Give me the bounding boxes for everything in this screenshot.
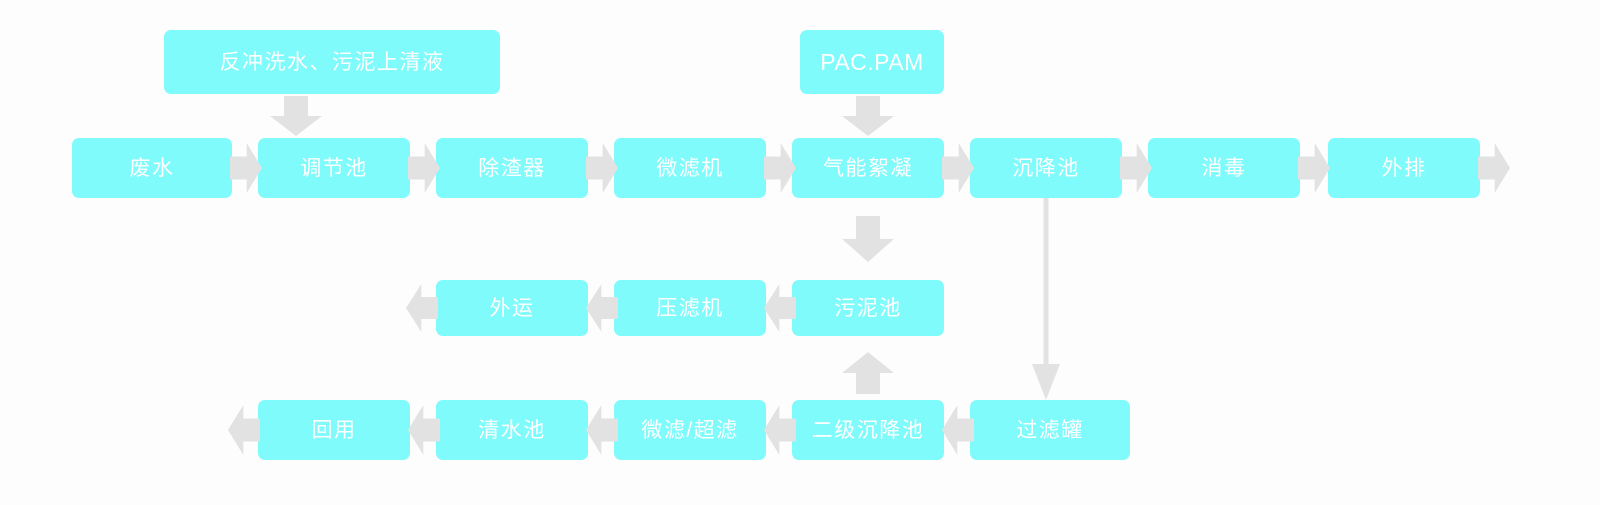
arrow-down-icon [842,216,894,262]
node-secsettling[interactable]: 二级沉降池 [792,400,944,460]
node-wastewater[interactable]: 废水 [72,138,232,198]
arrow-left-icon [942,405,974,455]
node-label: 微滤机 [656,158,724,179]
node-settling[interactable]: 沉降池 [970,138,1122,198]
node-pacpam[interactable]: PAC.PAM [800,30,944,94]
arrow-right-icon [1478,143,1510,193]
node-discharge[interactable]: 外排 [1328,138,1480,198]
arrow-right-icon [942,143,974,193]
node-label: 反冲洗水、污泥上清液 [220,52,445,73]
arrow-left-icon [228,405,260,455]
arrow-left-icon [764,284,796,332]
flowchart-canvas: 反冲洗水、污泥上清液PAC.PAM废水调节池除渣器微滤机气能絮凝沉降池消毒外排外… [0,0,1600,505]
node-label: 除渣器 [478,158,546,179]
arrow-right-icon [1298,143,1330,193]
node-label: 外排 [1382,158,1427,179]
arrow-left-icon [406,284,438,332]
arrow-right-icon [408,143,440,193]
node-label: 调节池 [300,158,368,179]
arrow-left-icon [586,405,618,455]
node-label: 过滤罐 [1016,420,1084,441]
node-label: 外运 [490,298,535,319]
node-transport[interactable]: 外运 [436,280,588,336]
connector-line-arrow-icon [1026,198,1066,400]
node-mfuf[interactable]: 微滤/超滤 [614,400,766,460]
arrow-left-icon [408,405,440,455]
arrow-right-icon [1120,143,1152,193]
node-deslagger[interactable]: 除渣器 [436,138,588,198]
node-sludgepool[interactable]: 污泥池 [792,280,944,336]
node-regulate[interactable]: 调节池 [258,138,410,198]
node-pressfilter[interactable]: 压滤机 [614,280,766,336]
node-label: 压滤机 [656,298,724,319]
arrow-right-icon [764,143,796,193]
arrow-left-icon [586,284,618,332]
node-label: 废水 [130,158,175,179]
node-label: 微滤/超滤 [641,420,738,441]
node-label: 气能絮凝 [823,158,913,179]
node-label: 清水池 [478,420,546,441]
node-clearwater[interactable]: 清水池 [436,400,588,460]
arrow-up-icon [842,352,894,394]
arrow-left-icon [764,405,796,455]
arrow-down-icon [270,96,322,136]
node-label: 消毒 [1202,158,1247,179]
arrow-down-icon [842,96,894,136]
node-disinfect[interactable]: 消毒 [1148,138,1300,198]
node-backwash[interactable]: 反冲洗水、污泥上清液 [164,30,500,94]
node-filtertank[interactable]: 过滤罐 [970,400,1130,460]
node-reuse[interactable]: 回用 [258,400,410,460]
node-label: PAC.PAM [820,51,924,74]
arrow-right-icon [586,143,618,193]
node-label: 污泥池 [834,298,902,319]
node-flocculation[interactable]: 气能絮凝 [792,138,944,198]
node-microfilter[interactable]: 微滤机 [614,138,766,198]
node-label: 回用 [312,420,357,441]
node-label: 沉降池 [1012,158,1080,179]
node-label: 二级沉降池 [812,420,925,441]
arrow-right-icon [230,143,262,193]
